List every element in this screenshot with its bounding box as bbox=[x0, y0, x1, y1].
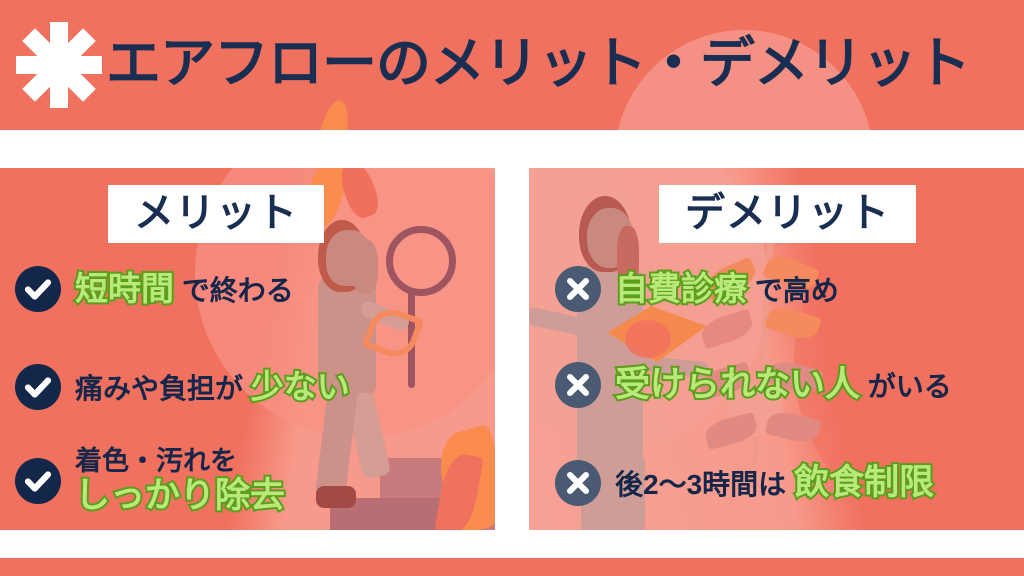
plain-text: がいる bbox=[868, 371, 952, 402]
list-item: 着色・汚れを しっかり除去 bbox=[0, 442, 495, 520]
highlight-text: 受けられない人 bbox=[615, 365, 860, 404]
x-circle-icon bbox=[555, 362, 601, 408]
list-item-text: 痛みや負担が 少ない bbox=[75, 368, 350, 407]
x-circle-icon bbox=[555, 460, 601, 506]
demerit-bullet-list: 自費診療 で高め 受けられない人 がいる bbox=[529, 246, 1024, 522]
highlight-text: 飲食制限 bbox=[794, 463, 934, 502]
plain-text: 痛みや負担が bbox=[75, 373, 243, 404]
panel-merit: メリット 短時間 で終わる 痛みや負担が bbox=[0, 168, 495, 530]
panel-demerit: デメリット 自費診療 で高め bbox=[529, 168, 1024, 530]
check-circle-icon bbox=[15, 364, 61, 410]
x-circle-icon bbox=[555, 266, 601, 312]
plain-text: で終わる bbox=[182, 275, 294, 306]
list-item-text: 後2〜3時間は 飲食制限 bbox=[615, 462, 934, 503]
list-item: 痛みや負担が 少ない bbox=[0, 348, 495, 426]
panel-header-demerit: デメリット bbox=[659, 185, 916, 243]
slide-root: エアフローのメリット・デメリット メリット bbox=[0, 0, 1024, 576]
plain-text: 後2〜3時間は bbox=[615, 469, 786, 500]
highlight-text: しっかり除去 bbox=[75, 478, 285, 514]
check-circle-icon bbox=[15, 266, 61, 312]
header-banner: エアフローのメリット・デメリット bbox=[0, 0, 1024, 130]
list-item: 短時間 で終わる bbox=[0, 250, 495, 328]
list-item-text: 短時間 で終わる bbox=[75, 270, 294, 309]
list-item-text: 着色・汚れを しっかり除去 bbox=[75, 448, 285, 513]
highlight-text: 自費診療 bbox=[615, 270, 747, 307]
panels-container: メリット 短時間 で終わる 痛みや負担が bbox=[0, 168, 1024, 530]
plain-text: 着色・汚れを bbox=[75, 448, 285, 476]
asterisk-icon bbox=[16, 22, 102, 108]
list-item: 自費診療 で高め bbox=[529, 250, 1024, 328]
page-title: エアフローのメリット・デメリット bbox=[106, 36, 970, 91]
list-item: 後2〜3時間は 飲食制限 bbox=[529, 444, 1024, 522]
list-item: 受けられない人 がいる bbox=[529, 346, 1024, 424]
bottom-accent-bar bbox=[0, 558, 1024, 576]
panel-header-merit: メリット bbox=[108, 185, 324, 243]
list-item-text: 受けられない人 がいる bbox=[615, 364, 952, 405]
highlight-text: 少ない bbox=[251, 368, 350, 405]
highlight-text: 短時間 bbox=[75, 270, 174, 307]
merit-bullet-list: 短時間 で終わる 痛みや負担が 少ない bbox=[0, 246, 495, 520]
plain-text: で高め bbox=[755, 275, 839, 306]
list-item-text: 自費診療 で高め bbox=[615, 270, 839, 309]
check-circle-icon bbox=[15, 458, 61, 504]
